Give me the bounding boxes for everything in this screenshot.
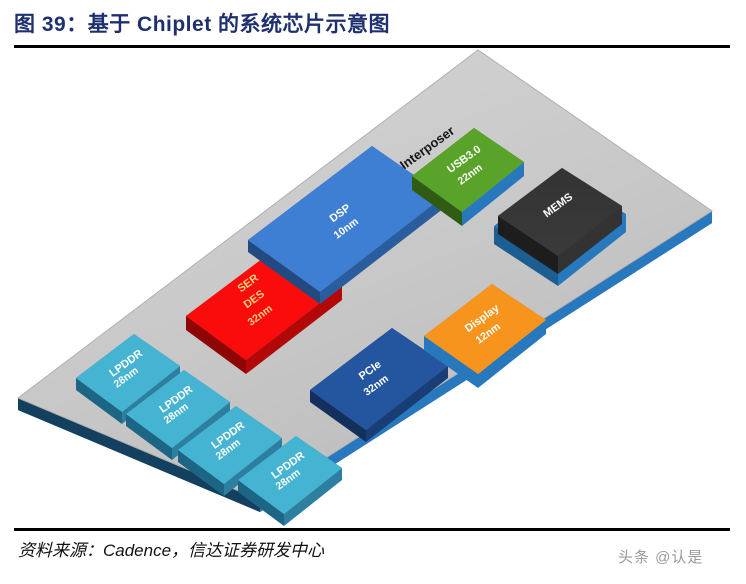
watermark: 头条 @认是 <box>618 546 703 567</box>
chiplet-diagram: Interposer LPDDR 28nm LPDDR 28nm <box>0 48 746 526</box>
interposer-board: Interposer <box>18 50 712 512</box>
figure-page: 图 39：基于 Chiplet 的系统芯片示意图 <box>0 0 746 584</box>
chiplet-diagram-svg: Interposer LPDDR 28nm LPDDR 28nm <box>0 48 746 526</box>
footer-divider <box>14 528 730 531</box>
source-note: 资料来源：Cadence，信达证券研发中心 <box>18 536 324 561</box>
page-title: 图 39：基于 Chiplet 的系统芯片示意图 <box>14 10 732 40</box>
figure-title-bar: 图 39：基于 Chiplet 的系统芯片示意图 <box>14 10 732 44</box>
